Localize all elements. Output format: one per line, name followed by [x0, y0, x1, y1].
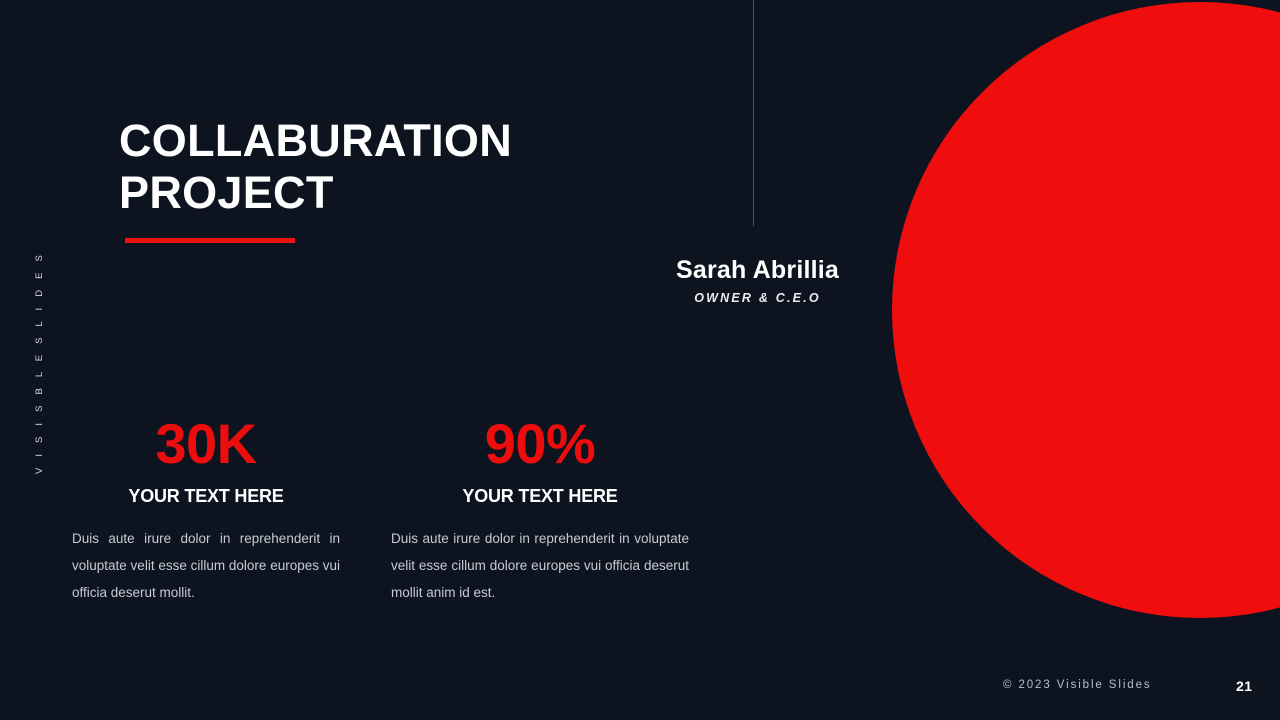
side-brand-text: V I S I S B L E S L I D E S [35, 250, 46, 473]
footer-page-number: 21 [1236, 678, 1253, 694]
vertical-divider-line [753, 0, 754, 226]
presenter-name: Sarah Abrillia [560, 255, 955, 285]
footer-copyright: © 2023 Visible Slides [1003, 679, 1152, 691]
stat-value: 90% [391, 412, 689, 476]
red-circle-decoration [892, 2, 1280, 618]
presentation-slide: V I S I S B L E S L I D E S COLLABURATIO… [0, 0, 1280, 720]
stat-block: 30K YOUR TEXT HERE Duis aute irure dolor… [72, 412, 340, 606]
slide-title-line-1: COLLABURATION [119, 115, 719, 167]
slide-title-line-2: PROJECT [119, 167, 719, 219]
stat-label: YOUR TEXT HERE [391, 486, 689, 507]
stat-description: Duis aute irure dolor in reprehenderit i… [391, 525, 689, 606]
stat-description: Duis aute irure dolor in reprehenderit i… [72, 525, 340, 606]
stat-value: 30K [72, 412, 340, 476]
title-underline-accent [125, 238, 295, 243]
side-brand-label: V I S I S B L E S L I D E S [27, 258, 53, 466]
presenter-role: OWNER & C.E.O [560, 291, 955, 305]
stat-block: 90% YOUR TEXT HERE Duis aute irure dolor… [391, 412, 689, 606]
slide-title: COLLABURATION PROJECT [119, 115, 719, 219]
presenter-byline: Sarah Abrillia OWNER & C.E.O [560, 255, 955, 305]
stat-label: YOUR TEXT HERE [72, 486, 340, 507]
